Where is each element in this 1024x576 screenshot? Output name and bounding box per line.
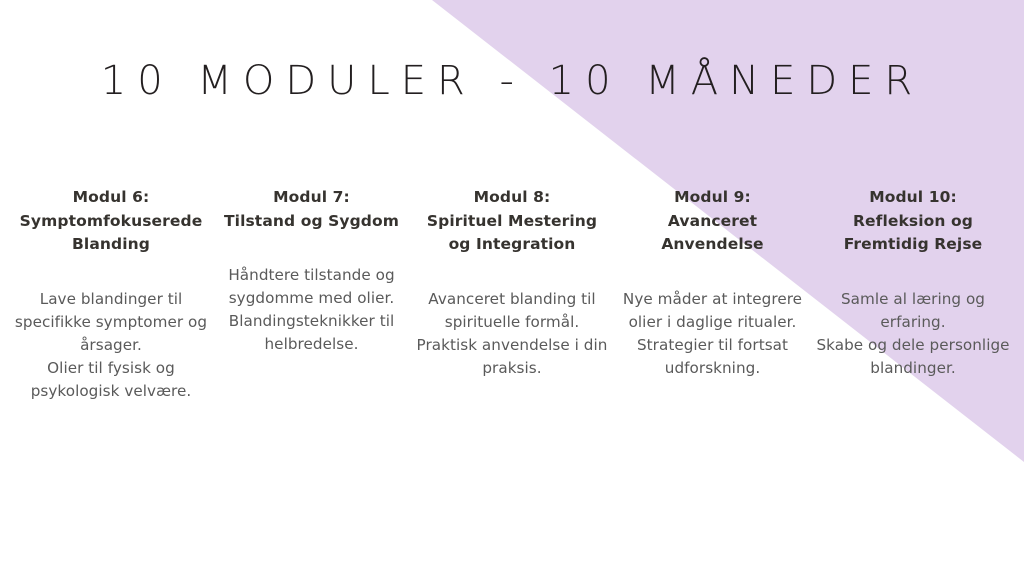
module-heading: Modul 8: Spirituel Mestering og Integrat… [415,186,609,257]
slide-canvas: 10 MODULER - 10 MÅNEDER Modul 6: Symptom… [0,0,1024,576]
module-heading: Modul 6: Symptomfokuserede Blanding [14,186,208,257]
module-heading: Modul 10: Refleksion og Fremtidig Rejse [816,186,1010,257]
module-body: Samle al læring og erfaring. Skabe og de… [816,257,1010,380]
module-body: Håndtere tilstande og sygdomme med olier… [215,233,409,356]
modules-row: Modul 6: Symptomfokuserede Blanding Lave… [14,186,1010,403]
module-heading: Modul 7: Tilstand og Sygdom [215,186,409,233]
module-column-10: Modul 10: Refleksion og Fremtidig Rejse … [816,186,1010,380]
module-column-8: Modul 8: Spirituel Mestering og Integrat… [415,186,609,380]
module-column-6: Modul 6: Symptomfokuserede Blanding Lave… [14,186,208,403]
module-body: Avanceret blanding til spirituelle formå… [415,257,609,380]
module-heading: Modul 9: Avanceret Anvendelse [616,186,810,257]
module-body: Nye måder at integrere olier i daglige r… [616,257,810,380]
page-title: 10 MODULER - 10 MÅNEDER [0,58,1024,104]
module-column-9: Modul 9: Avanceret Anvendelse Nye måder … [616,186,810,380]
module-body: Lave blandinger til specifikke symptomer… [14,257,208,403]
module-column-7: Modul 7: Tilstand og Sygdom Håndtere til… [215,186,409,356]
